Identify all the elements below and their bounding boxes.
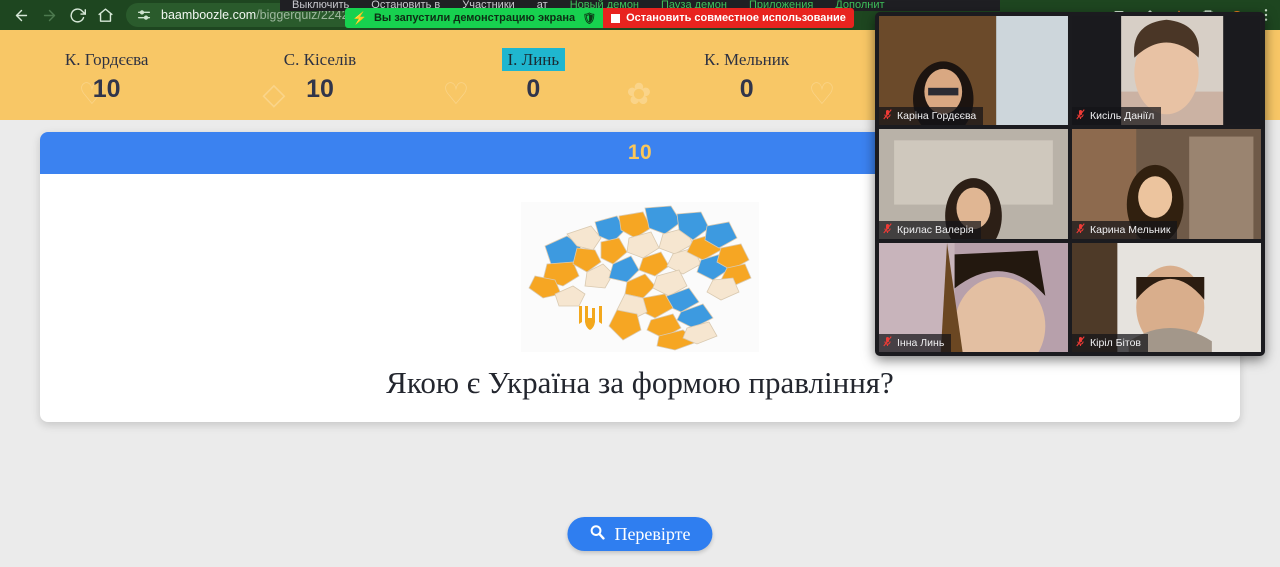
zoom-participant-tile[interactable]: Каріна Гордєєва — [879, 16, 1068, 125]
microphone-muted-icon — [883, 109, 892, 123]
participant-name: Крилас Валерія — [897, 224, 974, 236]
zoom-participant-tile[interactable]: Кіріл Бітов — [1072, 243, 1261, 352]
shield-icon: 🛡 — [582, 12, 596, 25]
back-arrow-icon[interactable] — [8, 2, 34, 28]
zoom-participant-tile[interactable]: Крилас Валерія — [879, 129, 1068, 238]
question-text: Якою є Україна за формою правління? — [386, 366, 894, 400]
zoom-participant-tile[interactable]: Карина Мельник — [1072, 129, 1261, 238]
zoom-participant-tile[interactable]: Кисіль Даніїл — [1072, 16, 1261, 125]
player-name: К. Мельник — [698, 48, 795, 71]
stop-sharing-label: Остановить совместное использование — [626, 12, 846, 24]
screen-share-notice: ⚡ Вы запустили демонстрацию экрана 🛡 Ост… — [345, 8, 854, 28]
player-2[interactable]: С. Кіселів10 — [213, 30, 426, 120]
participant-label: Кіріл Бітов — [1072, 334, 1148, 352]
zoom-toolbar-item[interactable]: Выключить — [292, 0, 349, 11]
participant-label: Карина Мельник — [1072, 221, 1177, 239]
player-score: 10 — [93, 77, 121, 102]
check-button[interactable]: Перевірте — [567, 517, 712, 551]
site-settings-icon[interactable] — [136, 7, 152, 23]
map-of-ukraine-image — [521, 202, 759, 352]
participant-label: Кисіль Даніїл — [1072, 107, 1161, 125]
screen-root: 10 — [0, 0, 1280, 567]
sharing-status: ⚡ Вы запустили демонстрацию экрана 🛡 — [345, 8, 603, 28]
check-button-label: Перевірте — [614, 524, 690, 545]
microphone-muted-icon — [1076, 336, 1085, 350]
home-icon[interactable] — [92, 2, 118, 28]
participant-label: Інна Линь — [879, 334, 951, 352]
player-score: 0 — [740, 77, 754, 102]
microphone-muted-icon — [883, 336, 892, 350]
magnifier-icon — [589, 524, 605, 545]
zoom-participant-tile[interactable]: Інна Линь — [879, 243, 1068, 352]
player-1[interactable]: К. Гордєєва10 — [0, 30, 213, 120]
player-name: І. Линь — [502, 48, 566, 71]
forward-arrow-icon[interactable] — [36, 2, 62, 28]
stop-sharing-button[interactable]: Остановить совместное использование — [603, 8, 854, 28]
player-3[interactable]: І. Линь0 — [427, 30, 640, 120]
participant-name: Кисіль Даніїл — [1090, 110, 1154, 122]
lightning-icon: ⚡ — [352, 11, 367, 25]
participant-name: Каріна Гордєєва — [897, 110, 976, 122]
stop-square-icon — [611, 14, 620, 23]
player-name: С. Кіселів — [278, 48, 362, 71]
microphone-muted-icon — [883, 223, 892, 237]
zoom-participant-grid: Каріна ГордєєваКисіль ДаніїлКрилас Валер… — [879, 16, 1261, 352]
url-host: baamboozle.com — [161, 8, 256, 22]
player-name: К. Гордєєва — [59, 48, 155, 71]
player-score: 10 — [306, 77, 334, 102]
microphone-muted-icon — [1076, 223, 1085, 237]
zoom-video-panel[interactable]: Каріна ГордєєваКисіль ДаніїлКрилас Валер… — [875, 12, 1265, 356]
reload-icon[interactable] — [64, 2, 90, 28]
player-score: 0 — [526, 77, 540, 102]
participant-label: Крилас Валерія — [879, 221, 981, 239]
participant-name: Інна Линь — [897, 337, 944, 349]
player-4[interactable]: К. Мельник0 — [640, 30, 853, 120]
microphone-muted-icon — [1076, 109, 1085, 123]
sharing-status-text: Вы запустили демонстрацию экрана — [374, 12, 575, 24]
timer-value: 10 — [628, 141, 652, 165]
participant-name: Кіріл Бітов — [1090, 337, 1141, 349]
participant-label: Каріна Гордєєва — [879, 107, 983, 125]
participant-name: Карина Мельник — [1090, 224, 1170, 236]
